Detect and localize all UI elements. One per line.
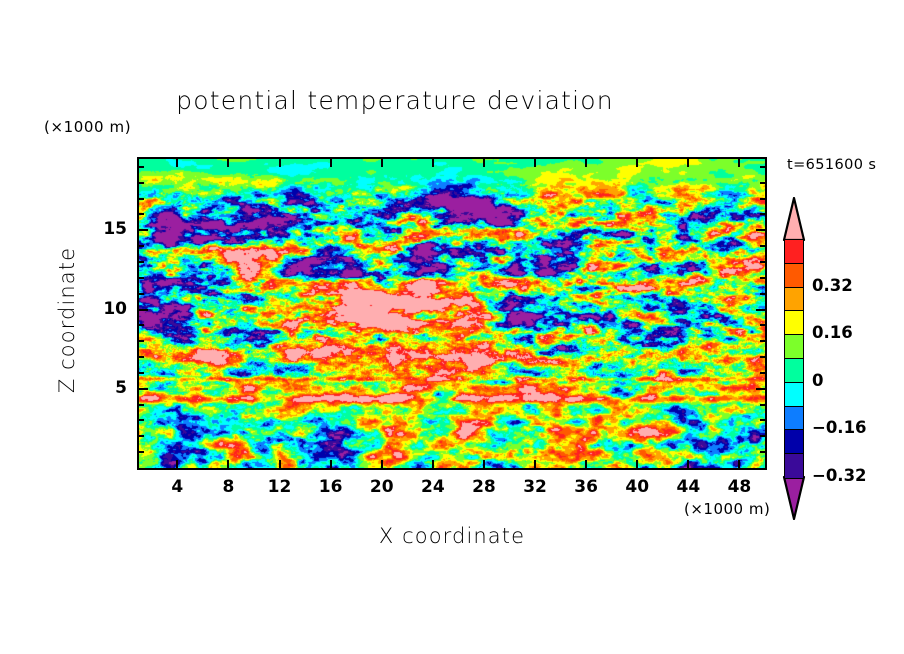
- x-tick-label: 24: [413, 477, 453, 497]
- x-tick-top: [227, 159, 229, 167]
- y-tick-right: [756, 388, 765, 390]
- colorbar-tick-label: 0.16: [812, 323, 853, 342]
- y-tick-right: [760, 419, 765, 421]
- y-tick: [139, 261, 144, 263]
- x-tick: [738, 460, 740, 468]
- y-tick-right: [760, 324, 765, 326]
- y-tick: [139, 451, 144, 453]
- y-tick-label: 10: [81, 299, 127, 319]
- x-tick: [279, 460, 281, 468]
- x-tick: [227, 460, 229, 468]
- y-tick: [139, 213, 144, 215]
- x-axis-title: X coordinate: [137, 524, 767, 548]
- y-tick: [139, 229, 148, 231]
- y-tick: [139, 435, 144, 437]
- x-tick-top: [381, 159, 383, 167]
- colorbar-top-arrow-icon: [781, 197, 807, 241]
- x-tick-top: [687, 159, 689, 167]
- colorbar-band: [784, 287, 804, 312]
- y-tick: [139, 309, 148, 311]
- colorbar-band: [784, 429, 804, 454]
- colorbar-band: [784, 382, 804, 407]
- x-tick: [483, 460, 485, 468]
- x-tick-label: 44: [668, 477, 708, 497]
- time-stamp: t=651600 s: [787, 157, 876, 173]
- y-tick-right: [760, 451, 765, 453]
- colorbar-tick-label: 0.32: [812, 276, 853, 295]
- colorbar: 0.320.160−0.16−0.32: [781, 197, 807, 519]
- y-tick: [139, 277, 144, 279]
- colorbar-band: [784, 358, 804, 383]
- y-tick-right: [760, 213, 765, 215]
- x-tick-top: [534, 159, 536, 167]
- x-tick-top: [279, 159, 281, 167]
- x-tick: [432, 460, 434, 468]
- y-tick-right: [760, 182, 765, 184]
- x-tick: [585, 460, 587, 468]
- x-tick: [636, 460, 638, 468]
- y-tick: [139, 340, 144, 342]
- x-tick: [687, 460, 689, 468]
- x-tick-label: 40: [617, 477, 657, 497]
- y-tick: [139, 166, 144, 168]
- colorbar-tick-label: −0.16: [812, 418, 867, 437]
- y-tick: [139, 356, 144, 358]
- y-tick: [139, 198, 144, 200]
- y-tick: [139, 293, 144, 295]
- y-tick-right: [760, 245, 765, 247]
- y-tick-right: [760, 435, 765, 437]
- y-tick: [139, 404, 144, 406]
- figure-root: potential temperature deviation (×1000 m…: [0, 0, 904, 654]
- y-tick: [139, 324, 144, 326]
- y-tick-right: [760, 293, 765, 295]
- x-tick-label: 32: [515, 477, 555, 497]
- y-tick: [139, 182, 144, 184]
- colorbar-band: [784, 310, 804, 335]
- y-tick-right: [760, 356, 765, 358]
- contour-field: [139, 159, 765, 468]
- colorbar-band: [784, 263, 804, 288]
- colorbar-bottom-arrow-icon: [781, 476, 807, 520]
- y-tick-right: [760, 340, 765, 342]
- x-tick: [534, 460, 536, 468]
- x-tick-label: 48: [719, 477, 759, 497]
- x-tick-top: [738, 159, 740, 167]
- x-tick-top: [585, 159, 587, 167]
- page-title: potential temperature deviation: [0, 86, 790, 115]
- y-tick-right: [760, 372, 765, 374]
- x-tick-top: [483, 159, 485, 167]
- x-tick: [381, 460, 383, 468]
- y-tick-right: [760, 277, 765, 279]
- x-tick-label: 8: [208, 477, 248, 497]
- colorbar-band: [784, 406, 804, 431]
- x-tick-label: 4: [157, 477, 197, 497]
- x-axis-units-label: (×1000 m): [684, 500, 770, 518]
- colorbar-tick-label: −0.32: [812, 466, 867, 485]
- y-tick-right: [760, 166, 765, 168]
- y-tick-label: 5: [81, 378, 127, 398]
- z-axis-units-label: (×1000 m): [44, 118, 131, 136]
- x-tick: [176, 460, 178, 468]
- x-tick-label: 28: [464, 477, 504, 497]
- y-tick: [139, 245, 144, 247]
- y-tick-right: [756, 229, 765, 231]
- y-tick-right: [760, 404, 765, 406]
- y-tick-right: [760, 261, 765, 263]
- plot-area: [137, 157, 767, 470]
- colorbar-band: [784, 239, 804, 264]
- y-tick-label: 15: [81, 219, 127, 239]
- x-tick-top: [636, 159, 638, 167]
- y-axis-title: Z coordinate: [55, 205, 79, 435]
- y-tick: [139, 419, 144, 421]
- x-tick-label: 36: [566, 477, 606, 497]
- x-tick: [330, 460, 332, 468]
- colorbar-band: [784, 334, 804, 359]
- colorbar-band: [784, 453, 804, 478]
- y-tick: [139, 388, 148, 390]
- x-tick-top: [432, 159, 434, 167]
- x-tick-label: 20: [362, 477, 402, 497]
- colorbar-tick-label: 0: [812, 371, 823, 390]
- x-tick-top: [330, 159, 332, 167]
- x-tick-top: [176, 159, 178, 167]
- x-tick-label: 12: [260, 477, 300, 497]
- x-tick-label: 16: [311, 477, 351, 497]
- y-tick: [139, 372, 144, 374]
- y-tick-right: [756, 309, 765, 311]
- y-tick-right: [760, 198, 765, 200]
